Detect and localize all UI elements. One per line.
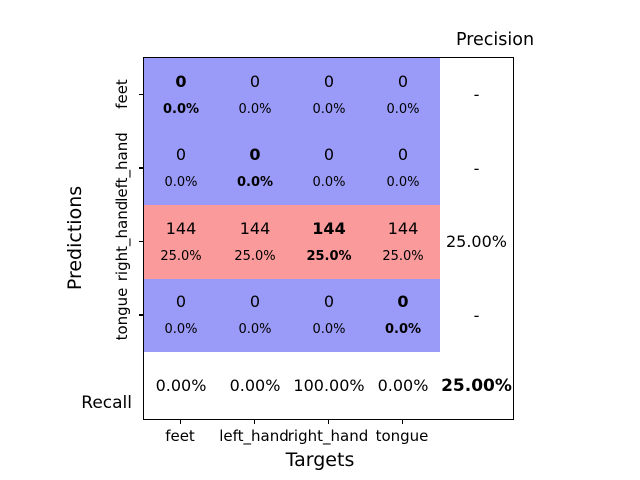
cell-right_hand-left_hand: 14425.0% [218, 205, 292, 279]
cell-percent: 0.0% [164, 323, 197, 336]
cell-percent: 0.0% [238, 323, 271, 336]
precision-column: --25.00%- [440, 58, 513, 352]
precision-value-left_hand: - [440, 132, 513, 206]
x-axis-title: Targets [0, 449, 640, 471]
cell-count: 0 [250, 294, 260, 310]
precision-column-title: Precision [430, 30, 560, 50]
cell-feet-tongue: 00.0% [366, 58, 440, 132]
cell-count: 0 [324, 74, 334, 90]
cell-percent: 0.0% [163, 103, 199, 116]
cell-percent: 0.0% [386, 103, 419, 116]
cell-percent: 0.0% [237, 176, 273, 189]
cell-count: 0 [397, 294, 408, 310]
recall-value-right_hand: 100.00% [292, 352, 366, 419]
cell-tongue-feet: 00.0% [144, 279, 218, 353]
cell-right_hand-feet: 14425.0% [144, 205, 218, 279]
y-tick-tongue [139, 314, 143, 315]
x-tick-tongue [402, 420, 403, 424]
cell-count: 0 [249, 147, 260, 163]
cell-count: 144 [240, 221, 271, 237]
recall-row: 0.00%0.00%100.00%0.00%25.00% [144, 352, 513, 419]
x-tick-feet [180, 420, 181, 424]
precision-value-right_hand: 25.00% [440, 205, 513, 279]
y-tick-feet [139, 94, 143, 95]
cell-percent: 25.0% [306, 250, 351, 263]
cell-count: 0 [398, 147, 408, 163]
cell-percent: 0.0% [386, 176, 419, 189]
overall-accuracy: 25.00% [440, 352, 513, 419]
cell-percent: 0.0% [312, 323, 345, 336]
y-tick-label-left_hand: left_hand [113, 132, 131, 202]
y-tick-label-tongue: tongue [113, 288, 131, 341]
cell-count: 144 [388, 221, 419, 237]
cell-count: 144 [166, 221, 197, 237]
y-tick-label-feet: feet [113, 79, 131, 109]
recall-value-feet: 0.00% [144, 352, 218, 419]
cell-left_hand-right_hand: 00.0% [292, 132, 366, 206]
confusion-matrix-figure: Precision 00.0%00.0%00.0%00.0%00.0%00.0%… [0, 0, 640, 480]
cell-percent: 25.0% [160, 250, 201, 263]
cell-tongue-tongue: 00.0% [366, 279, 440, 353]
cell-feet-right_hand: 00.0% [292, 58, 366, 132]
y-tick-right_hand [139, 241, 143, 242]
cell-left_hand-left_hand: 00.0% [218, 132, 292, 206]
cell-percent: 0.0% [312, 103, 345, 116]
cell-count: 144 [312, 221, 345, 237]
cell-percent: 25.0% [234, 250, 275, 263]
cell-left_hand-tongue: 00.0% [366, 132, 440, 206]
cell-count: 0 [250, 74, 260, 90]
cell-right_hand-tongue: 14425.0% [366, 205, 440, 279]
cell-percent: 0.0% [385, 323, 421, 336]
x-tick-label-right_hand: right_hand [288, 427, 368, 445]
matrix-axes: 00.0%00.0%00.0%00.0%00.0%00.0%00.0%00.0%… [143, 57, 514, 420]
x-tick-label-left_hand: left_hand [219, 427, 289, 445]
cell-tongue-left_hand: 00.0% [218, 279, 292, 353]
recall-value-left_hand: 0.00% [218, 352, 292, 419]
cell-percent: 25.0% [382, 250, 423, 263]
y-tick-left_hand [139, 167, 143, 168]
y-tick-label-right_hand: right_hand [113, 201, 131, 281]
cell-count: 0 [176, 147, 186, 163]
recall-value-tongue: 0.00% [366, 352, 440, 419]
precision-value-feet: - [440, 58, 513, 132]
cell-percent: 0.0% [164, 176, 197, 189]
cell-count: 0 [176, 294, 186, 310]
cell-count: 0 [324, 294, 334, 310]
x-tick-label-tongue: tongue [376, 427, 429, 445]
recall-axis-label: Recall [81, 393, 132, 413]
cell-tongue-right_hand: 00.0% [292, 279, 366, 353]
cell-left_hand-feet: 00.0% [144, 132, 218, 206]
y-axis-title: Predictions [64, 186, 86, 290]
x-tick-right_hand [328, 420, 329, 424]
cell-count: 0 [175, 74, 186, 90]
cell-percent: 0.0% [312, 176, 345, 189]
cell-right_hand-right_hand: 14425.0% [292, 205, 366, 279]
cell-count: 0 [324, 147, 334, 163]
x-tick-label-feet: feet [165, 427, 195, 445]
precision-value-tongue: - [440, 279, 513, 353]
cell-feet-feet: 00.0% [144, 58, 218, 132]
cell-feet-left_hand: 00.0% [218, 58, 292, 132]
heatmap-grid: 00.0%00.0%00.0%00.0%00.0%00.0%00.0%00.0%… [144, 58, 440, 352]
cell-count: 0 [398, 74, 408, 90]
x-tick-left_hand [254, 420, 255, 424]
cell-percent: 0.0% [238, 103, 271, 116]
